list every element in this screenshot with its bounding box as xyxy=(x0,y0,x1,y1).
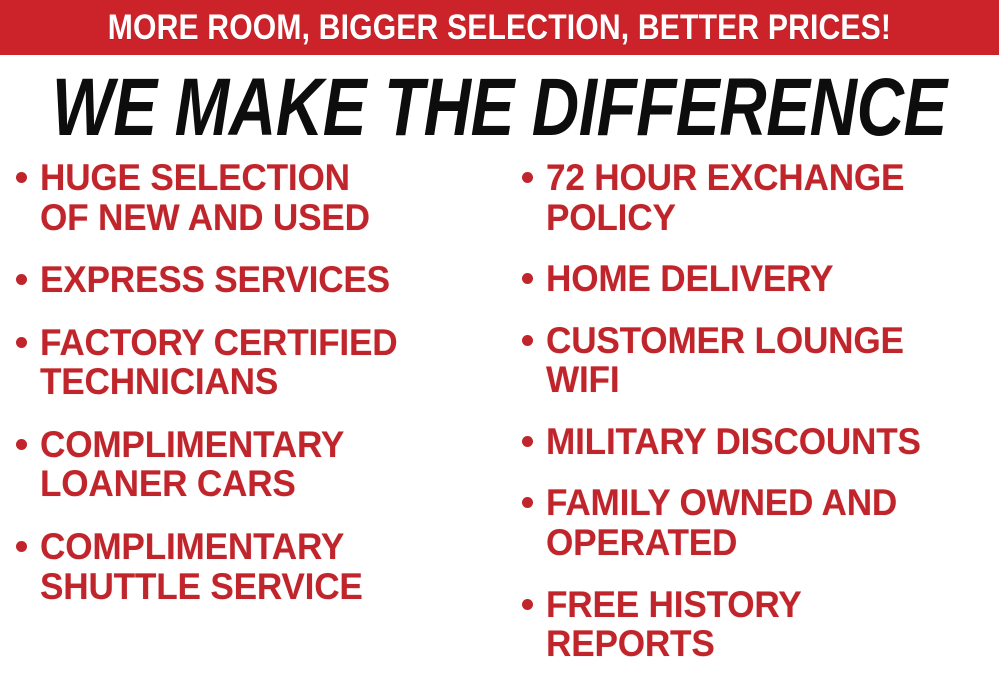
bullet-dot-icon xyxy=(16,172,27,183)
bullet-dot-icon xyxy=(522,335,533,346)
list-item: COMPLIMENTARY SHUTTLE SERVICE xyxy=(16,527,504,606)
bullet-dot-icon xyxy=(16,541,27,552)
list-item-label: 72 HOUR EXCHANGE POLICY xyxy=(546,158,904,237)
bullet-dot-icon xyxy=(16,439,27,450)
benefits-columns: HUGE SELECTION OF NEW AND USED EXPRESS S… xyxy=(0,158,999,692)
benefits-column-right: 72 HOUR EXCHANGE POLICY HOME DELIVERY CU… xyxy=(508,158,999,692)
bullet-dot-icon xyxy=(522,172,533,183)
page-title: WE MAKE THE DIFFERENCE xyxy=(52,67,947,149)
bullet-dot-icon xyxy=(522,436,533,447)
headline-container: WE MAKE THE DIFFERENCE xyxy=(0,64,999,152)
list-item-label: FREE HISTORY REPORTS xyxy=(546,585,802,664)
list-item: FACTORY CERTIFIED TECHNICIANS xyxy=(16,323,504,402)
list-item-label: HOME DELIVERY xyxy=(546,259,833,299)
list-item: 72 HOUR EXCHANGE POLICY xyxy=(522,158,997,237)
list-item-label: COMPLIMENTARY LOANER CARS xyxy=(40,425,344,504)
top-banner: MORE ROOM, BIGGER SELECTION, BETTER PRIC… xyxy=(0,0,999,55)
benefits-column-left: HUGE SELECTION OF NEW AND USED EXPRESS S… xyxy=(0,158,508,692)
list-item: EXPRESS SERVICES xyxy=(16,260,504,300)
banner-headline: MORE ROOM, BIGGER SELECTION, BETTER PRIC… xyxy=(108,10,891,45)
promo-poster: MORE ROOM, BIGGER SELECTION, BETTER PRIC… xyxy=(0,0,999,692)
list-item: MILITARY DISCOUNTS xyxy=(522,422,997,462)
bullet-dot-icon xyxy=(522,599,533,610)
list-item: CUSTOMER LOUNGE WIFI xyxy=(522,321,997,400)
list-item-label: MILITARY DISCOUNTS xyxy=(546,422,921,462)
list-item: COMPLIMENTARY LOANER CARS xyxy=(16,425,504,504)
list-item: FREE HISTORY REPORTS xyxy=(522,585,997,664)
list-item-label: HUGE SELECTION OF NEW AND USED xyxy=(40,158,370,237)
list-item-label: EXPRESS SERVICES xyxy=(40,260,390,300)
bullet-dot-icon xyxy=(522,273,533,284)
list-item-label: FAMILY OWNED AND OPERATED xyxy=(546,483,897,562)
list-item-label: CUSTOMER LOUNGE WIFI xyxy=(546,321,904,400)
bullet-dot-icon xyxy=(16,337,27,348)
list-item: HUGE SELECTION OF NEW AND USED xyxy=(16,158,504,237)
list-item: HOME DELIVERY xyxy=(522,259,997,299)
list-item-label: FACTORY CERTIFIED TECHNICIANS xyxy=(40,323,397,402)
bullet-dot-icon xyxy=(522,497,533,508)
bullet-dot-icon xyxy=(16,274,27,285)
list-item: FAMILY OWNED AND OPERATED xyxy=(522,483,997,562)
list-item-label: COMPLIMENTARY SHUTTLE SERVICE xyxy=(40,527,363,606)
